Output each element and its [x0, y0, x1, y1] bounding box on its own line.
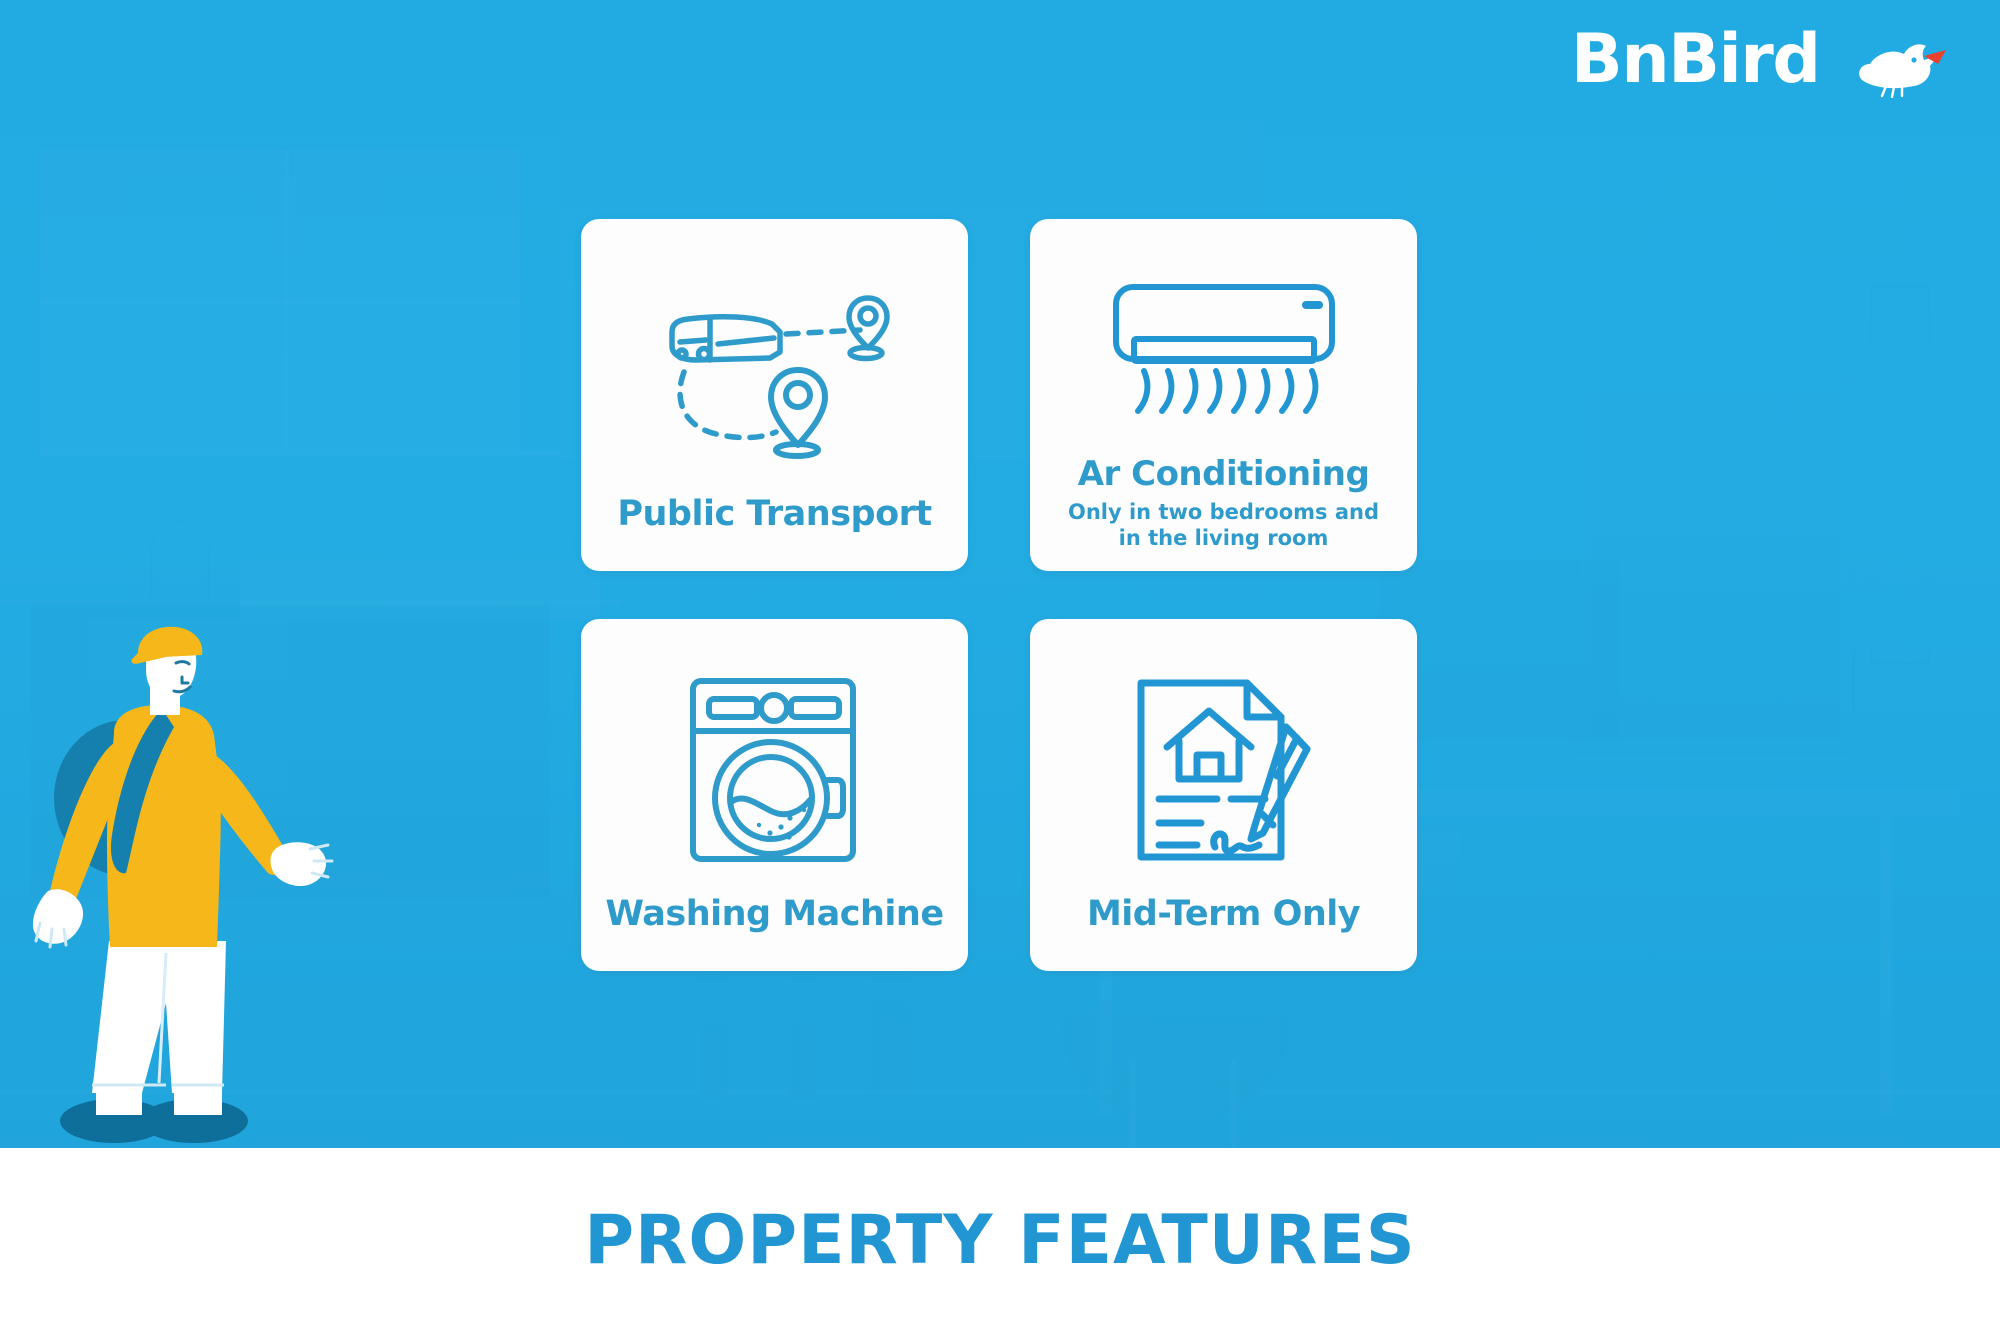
feature-card-mid-term-only[interactable]: Mid-Term Only	[1030, 619, 1417, 971]
brand-name: BnBird™	[1571, 26, 1836, 94]
footer-section: PROPERTY FEATURES	[0, 1148, 2000, 1333]
air-conditioner-icon	[1048, 245, 1399, 456]
page-title: PROPERTY FEATURES	[584, 1201, 1416, 1280]
person-welcoming-illustration	[14, 623, 354, 1148]
brand-logo[interactable]: BnBird™	[1571, 26, 1948, 103]
washing-machine-icon	[599, 645, 950, 895]
feature-card-title: Washing Machine	[605, 895, 943, 934]
feature-card-title: Public Transport	[617, 495, 931, 534]
trademark-symbol: ™	[1823, 0, 1837, 8]
feature-card-washing-machine[interactable]: Washing Machine	[581, 619, 968, 971]
hero-section: BnBird™	[0, 0, 2000, 1148]
feature-card-public-transport[interactable]: Public Transport	[581, 219, 968, 571]
feature-card-title: Ar Conditioning	[1078, 456, 1370, 493]
feature-card-grid: Public Transport	[581, 219, 1417, 971]
feature-card-title: Mid-Term Only	[1087, 895, 1360, 934]
feature-card-subtitle: Only in two bedrooms and in the living r…	[1054, 499, 1394, 552]
signed-contract-icon	[1048, 645, 1399, 895]
slide: BnBird™	[0, 0, 2000, 1333]
bird-icon	[1852, 36, 1948, 103]
bus-route-icon	[599, 245, 950, 495]
feature-card-air-conditioning[interactable]: Ar Conditioning Only in two bedrooms and…	[1030, 219, 1417, 571]
